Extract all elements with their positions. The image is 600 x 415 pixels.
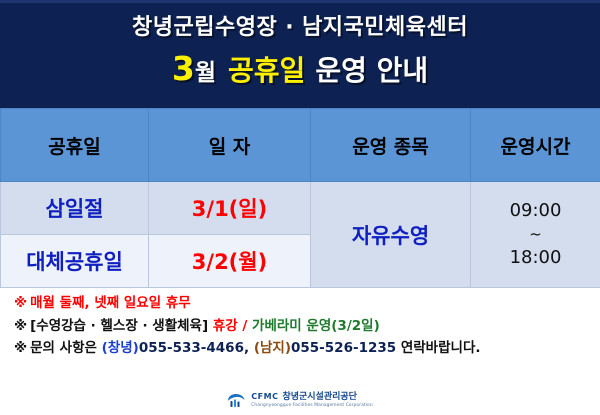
- month-number: 3: [172, 49, 195, 88]
- column-header-program: 운영 종목: [311, 109, 471, 182]
- notice-poster: 창녕군립수영장·남지국민체육센터 3월공휴일운영 안내 공휴일 일 자 운영 종…: [0, 0, 600, 415]
- note-line-3: ※문의 사항은 (창녕)055-533-4466, (남지)055-526-12…: [14, 342, 600, 356]
- logo-text-block: CFMC 창녕군시설관리공단 Changnyeonggun Facilities…: [251, 393, 372, 408]
- holiday-date-cell: 3/1(일): [149, 182, 311, 235]
- holiday-name-cell: 대체공휴일: [1, 235, 149, 288]
- headline-tail: 운영 안내: [305, 54, 428, 87]
- open-time: 09:00: [471, 198, 600, 224]
- logo-abbreviation: CFMC: [251, 393, 278, 401]
- organization-logo: CFMC 창녕군시설관리공단 Changnyeonggun Facilities…: [227, 393, 372, 409]
- contact-phone-changnyeong[interactable]: 055-533-4466,: [139, 340, 249, 356]
- schedule-table: 공휴일 일 자 운영 종목 운영시간 삼일절 3/1(일) 자유수영 09:00…: [0, 108, 600, 288]
- note-mark-icon: ※: [14, 295, 30, 311]
- note-1-text: 매월 둘째, 넷째 일요일 휴무: [30, 295, 191, 311]
- logo-primary-line: CFMC 창녕군시설관리공단: [251, 393, 372, 402]
- holiday-name-cell: 삼일절: [1, 182, 149, 235]
- operating-hours-stack: 09:00 ~ 18:00: [471, 194, 600, 276]
- title-separator-dot: ·: [277, 17, 302, 39]
- organization-logo-area: CFMC 창녕군시설관리공단 Changnyeonggun Facilities…: [0, 393, 600, 409]
- note-line-2: ※[수영강습 · 헬스장 · 생활체육] 휴강 / 가베라미 운영(3/2일): [14, 320, 600, 334]
- headline-highlight: 공휴일: [228, 54, 305, 87]
- column-header-holiday: 공휴일: [1, 109, 149, 182]
- logo-korean-name: 창녕군시설관리공단: [282, 393, 357, 402]
- operating-hours-cell: 09:00 ~ 18:00: [471, 182, 600, 288]
- program-cell: 자유수영: [311, 182, 471, 288]
- schedule-table-wrap: 공휴일 일 자 운영 종목 운영시간 삼일절 3/1(일) 자유수영 09:00…: [0, 108, 600, 288]
- headline-line: 3월공휴일운영 안내: [0, 52, 600, 85]
- facility-name-right: 남지국민체육센터: [302, 15, 468, 40]
- month-unit: 월: [195, 60, 228, 86]
- note-2-slash: /: [242, 318, 247, 334]
- close-time: 18:00: [471, 245, 600, 271]
- contact-org-namji: (남지): [254, 340, 291, 356]
- column-header-hours: 운영시간: [471, 109, 600, 182]
- notes-section: ※매월 둘째, 넷째 일요일 휴무 ※[수영강습 · 헬스장 · 생활체육] 휴…: [0, 288, 600, 356]
- note-3-suffix: 연락바랍니다.: [401, 340, 481, 356]
- contact-phone-namji[interactable]: 055-526-1235: [291, 340, 396, 356]
- cfmc-wave-logo-icon: [227, 393, 246, 409]
- facility-title-line: 창녕군립수영장·남지국민체육센터: [0, 17, 600, 39]
- note-mark-icon: ※: [14, 340, 30, 356]
- poster-header-banner: 창녕군립수영장·남지국민체육센터 3월공휴일운영 안내: [0, 0, 600, 108]
- time-range-tilde: ~: [471, 224, 600, 246]
- table-header-row: 공휴일 일 자 운영 종목 운영시간: [1, 109, 600, 182]
- logo-english-name: Changnyeonggun Facilities Management Cor…: [251, 404, 372, 408]
- note-2-program-label: 가베라미 운영(3/2일): [252, 318, 380, 334]
- contact-org-changnyeong: (창녕): [102, 340, 139, 356]
- column-header-date: 일 자: [149, 109, 311, 182]
- note-2-prefix: [수영강습 · 헬스장 · 생활체육]: [30, 318, 208, 334]
- note-mark-icon: ※: [14, 318, 30, 334]
- note-line-1: ※매월 둘째, 넷째 일요일 휴무: [14, 297, 600, 311]
- note-2-closed-label: 휴강: [213, 318, 238, 334]
- facility-name-left: 창녕군립수영장: [132, 15, 277, 40]
- note-3-prefix: 문의 사항은: [30, 340, 97, 356]
- table-row: 삼일절 3/1(일) 자유수영 09:00 ~ 18:00: [1, 182, 600, 235]
- holiday-date-cell: 3/2(월): [149, 235, 311, 288]
